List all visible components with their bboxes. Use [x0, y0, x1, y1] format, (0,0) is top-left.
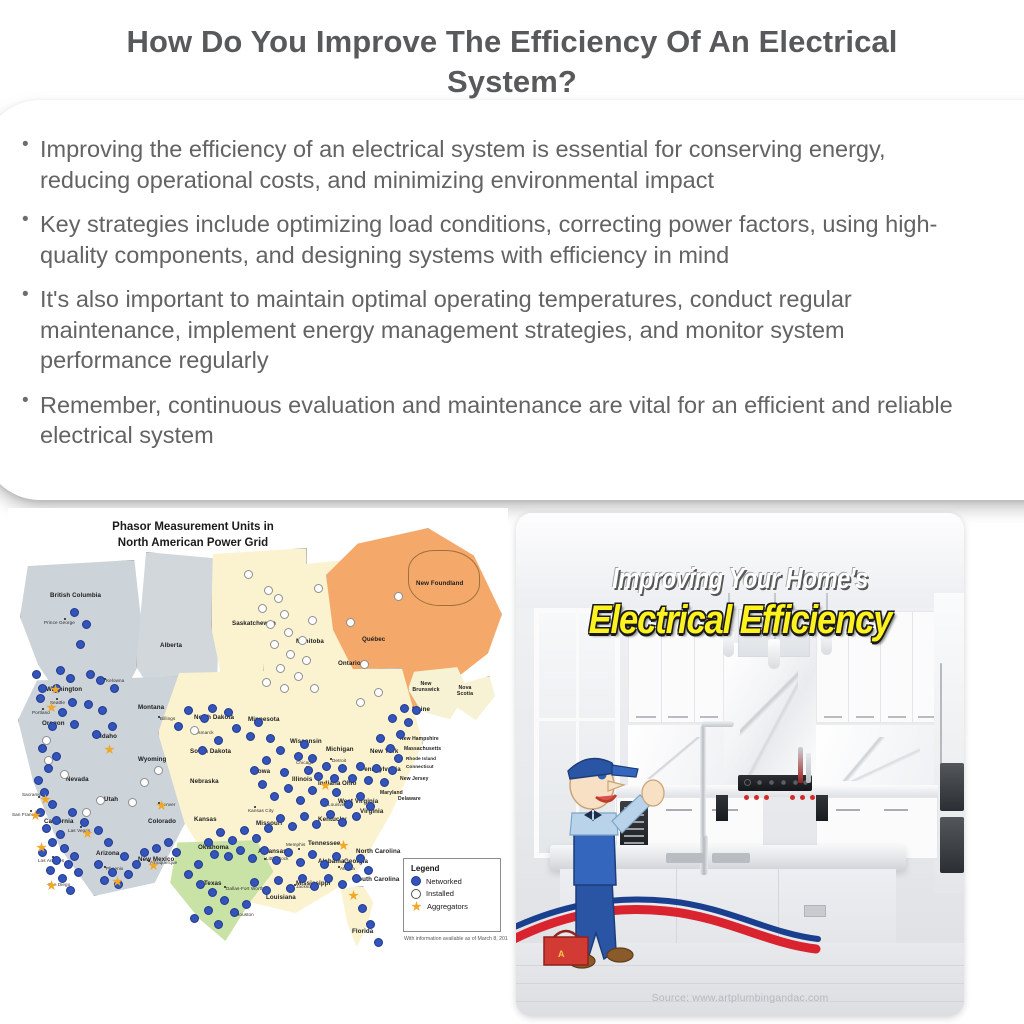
map-legend-label: Installed: [426, 889, 454, 898]
map-legend-label: Aggregators: [427, 902, 468, 911]
map-marker-installed: [154, 766, 163, 775]
map-marker-networked: [260, 846, 269, 855]
map-label-nevada: Nevada: [66, 776, 89, 783]
map-marker-networked: [322, 762, 331, 771]
map-marker-networked: [296, 858, 305, 867]
map-marker-networked: [92, 730, 101, 739]
map-marker-networked: [36, 694, 45, 703]
map-label-rhode-island: Rhode Island: [406, 756, 436, 761]
map-label-british-columbia: British Columbia: [50, 592, 101, 599]
map-label-idaho: Idaho: [100, 733, 117, 740]
images-row: Phasor Measurement Units in North Americ…: [0, 505, 1024, 1024]
map-marker-networked: [76, 640, 85, 649]
map-marker-networked: [264, 824, 273, 833]
map-marker-networked: [356, 792, 365, 801]
map-marker-networked: [240, 826, 249, 835]
map-marker-networked: [338, 880, 347, 889]
map-label-quebec: Québec: [362, 636, 385, 643]
map-marker-networked: [108, 868, 117, 877]
map-legend-item-aggregators: Aggregators: [411, 901, 493, 912]
map-marker-installed: [346, 618, 355, 627]
map-label-kansas: Kansas: [194, 816, 217, 823]
map-marker-networked: [194, 860, 203, 869]
map-label-south-dakota: South Dakota: [190, 748, 231, 755]
map-canvas: Phasor Measurement Units in North Americ…: [8, 508, 508, 1020]
map-label-new-hampshire: New Hampshire: [400, 736, 439, 742]
map-marker-networked: [96, 676, 105, 685]
map-marker-networked: [60, 844, 69, 853]
map-marker-networked: [140, 848, 149, 857]
mascot-cap-brim: [612, 765, 638, 777]
map-marker-networked: [56, 830, 65, 839]
map-marker-installed: [258, 604, 267, 613]
map-footnote: With information available as of March 8…: [404, 936, 508, 942]
map-marker-networked: [220, 896, 229, 905]
page-title: How Do You Improve The Efficiency Of An …: [70, 22, 954, 101]
map-label-louisiana: Louisiana: [266, 894, 296, 901]
map-marker-networked: [74, 868, 83, 877]
map-marker-networked: [352, 874, 361, 883]
map-label-tennessee: Tennessee: [308, 840, 340, 847]
map-marker-installed: [356, 698, 365, 707]
map-marker-networked: [250, 766, 259, 775]
map-region-newfoundland: [408, 550, 480, 606]
map-marker-installed: [310, 684, 319, 693]
map-marker-networked: [344, 862, 353, 871]
map-region-florida: [338, 886, 380, 948]
map-marker-networked: [326, 810, 335, 819]
map-marker-networked: [52, 856, 61, 865]
map-marker-installed: [280, 684, 289, 693]
map-marker-networked: [242, 900, 251, 909]
map-marker-networked: [196, 880, 205, 889]
map-marker-networked: [364, 866, 373, 875]
map-marker-networked: [304, 766, 313, 775]
map-label-newfoundland: New Foundland: [416, 580, 463, 587]
map-label-minnesota: Minnesota: [248, 716, 280, 723]
map-marker-installed: [262, 678, 271, 687]
map-marker-installed: [374, 688, 383, 697]
map-marker-networked: [300, 812, 309, 821]
map-label-ontario: Ontario: [338, 660, 361, 667]
map-marker-networked: [376, 734, 385, 743]
map-label-new-jersey: New Jersey: [400, 776, 429, 782]
map-label-michigan: Michigan: [326, 746, 354, 753]
map-label-florida: Florida: [352, 928, 373, 935]
map-label-texas: Texas: [204, 880, 222, 887]
map-marker-networked: [232, 724, 241, 733]
map-marker-installed: [276, 664, 285, 673]
map-label-massachusetts: Massachusetts: [404, 746, 441, 752]
map-marker-networked: [66, 886, 75, 895]
map-marker-networked: [204, 838, 213, 847]
map-marker-networked: [332, 788, 341, 797]
map-marker-networked: [46, 866, 55, 875]
map-title: Phasor Measurement Units in North Americ…: [68, 520, 318, 551]
map-marker-networked: [404, 718, 413, 727]
mascot-shoe: [607, 948, 633, 962]
map-marker-networked: [184, 870, 193, 879]
map-marker-networked: [110, 684, 119, 693]
map-legend-item-installed: Installed: [411, 889, 493, 899]
map-city-label: Prince George: [44, 620, 75, 625]
map-legend-title: Legend: [411, 864, 493, 873]
map-marker-networked: [100, 876, 109, 885]
map-marker-networked: [270, 792, 279, 801]
map-city-label: Seattle: [50, 700, 65, 705]
map-marker-networked: [276, 814, 285, 823]
map-marker-networked: [294, 752, 303, 761]
kitchen-photo: A Improving Your Home's Electrical Effic…: [516, 513, 964, 1016]
map-marker-networked: [310, 882, 319, 891]
power-grid-map: Phasor Measurement Units in North Americ…: [8, 508, 508, 1020]
map-marker-networked: [48, 800, 57, 809]
summary-card: Improving the efficiency of an electrica…: [0, 100, 1024, 500]
map-marker-installed: [280, 610, 289, 619]
map-marker-installed: [314, 584, 323, 593]
map-marker-networked: [164, 838, 173, 847]
map-marker-networked: [300, 740, 309, 749]
map-marker-networked: [276, 746, 285, 755]
map-marker-networked: [252, 834, 261, 843]
summary-card-content: Improving the efficiency of an electrica…: [18, 134, 1018, 474]
map-marker-networked: [172, 848, 181, 857]
map-marker-networked: [330, 774, 339, 783]
map-marker-networked: [184, 706, 193, 715]
map-city-label: Kansas City: [248, 808, 274, 813]
map-marker-installed: [394, 592, 403, 601]
map-marker-installed: [244, 570, 253, 579]
map-marker-installed: [128, 798, 137, 807]
toolbox-handle: [554, 931, 578, 937]
map-marker-networked: [312, 820, 321, 829]
map-marker-networked: [348, 774, 357, 783]
map-marker-networked: [108, 722, 117, 731]
map-marker-installed: [96, 796, 105, 805]
map-marker-installed: [360, 660, 369, 669]
map-marker-networked: [98, 706, 107, 715]
map-marker-networked: [70, 608, 79, 617]
installed-marker-icon: [411, 889, 421, 899]
list-item: Remember, continuous evaluation and main…: [18, 390, 963, 451]
map-marker-networked: [388, 714, 397, 723]
map-marker-networked: [366, 802, 375, 811]
map-marker-networked: [80, 818, 89, 827]
mascot-nose: [608, 781, 624, 791]
map-marker-installed: [190, 726, 199, 735]
map-marker-networked: [216, 828, 225, 837]
map-marker-networked: [198, 746, 207, 755]
map-marker-networked: [34, 776, 43, 785]
map-marker-networked: [288, 822, 297, 831]
map-marker-installed: [266, 620, 275, 629]
map-marker-installed: [270, 640, 279, 649]
map-marker-networked: [204, 906, 213, 915]
map-marker-networked: [70, 720, 79, 729]
map-marker-networked: [308, 754, 317, 763]
map-label-colorado: Colorado: [148, 818, 176, 825]
map-marker-networked: [48, 838, 57, 847]
bullet-list: Improving the efficiency of an electrica…: [18, 134, 1018, 451]
map-marker-networked: [356, 854, 365, 863]
map-city-label: Dallas-Fort Worth: [226, 886, 264, 891]
map-marker-networked: [320, 860, 329, 869]
map-marker-networked: [94, 826, 103, 835]
map-marker-networked: [208, 704, 217, 713]
map-marker-networked: [200, 714, 209, 723]
map-marker-networked: [314, 772, 323, 781]
mascot-technician: A: [544, 759, 664, 969]
map-marker-networked: [70, 852, 79, 861]
map-marker-networked: [394, 754, 403, 763]
map-marker-networked: [230, 908, 239, 917]
map-title-line-2: North American Power Grid: [68, 536, 318, 552]
infographic-page: How Do You Improve The Efficiency Of An …: [0, 0, 1024, 1024]
map-marker-networked: [338, 818, 347, 827]
map-marker-networked: [38, 744, 47, 753]
map-marker-networked: [250, 878, 259, 887]
map-legend: Legend Networked Installed Aggregators: [403, 858, 501, 932]
map-label-alberta: Alberta: [160, 642, 182, 649]
map-marker-networked: [124, 870, 133, 879]
map-marker-networked: [68, 808, 77, 817]
map-marker-networked: [48, 722, 57, 731]
map-marker-networked: [396, 730, 405, 739]
map-marker-networked: [298, 874, 307, 883]
map-legend-item-networked: Networked: [411, 876, 493, 886]
map-marker-networked: [284, 784, 293, 793]
map-legend-label: Networked: [426, 877, 462, 886]
map-city-label: Detroit: [332, 758, 346, 763]
map-label-utah: Utah: [104, 796, 118, 803]
map-marker-networked: [174, 722, 183, 731]
map-marker-networked: [332, 852, 341, 861]
map-marker-networked: [338, 764, 347, 773]
map-marker-installed: [286, 650, 295, 659]
map-title-line-1: Phasor Measurement Units in: [68, 520, 318, 536]
map-marker-networked: [366, 920, 375, 929]
list-item: It's also important to maintain optimal …: [18, 284, 963, 376]
map-marker-networked: [258, 780, 267, 789]
map-marker-networked: [386, 744, 395, 753]
map-marker-networked: [214, 920, 223, 929]
map-marker-installed: [274, 594, 283, 603]
mascot-and-swoosh-graphic: A: [516, 513, 964, 1016]
map-label-maryland: Maryland: [380, 790, 403, 796]
map-marker-networked: [380, 778, 389, 787]
map-city-label: Billings: [160, 716, 175, 721]
map-label-arizona: Arizona: [96, 850, 119, 857]
map-marker-networked: [262, 886, 271, 895]
map-marker-networked: [190, 914, 199, 923]
map-city-label: Kelowna: [106, 678, 124, 683]
map-marker-networked: [280, 768, 289, 777]
map-marker-networked: [364, 776, 373, 785]
map-marker-networked: [254, 718, 263, 727]
map-label-new-brunswick: New Brunswick: [412, 682, 440, 694]
mascot-hand: [642, 780, 664, 806]
map-marker-installed: [294, 672, 303, 681]
map-marker-networked: [228, 836, 237, 845]
map-marker-networked: [210, 850, 219, 859]
map-marker-networked: [58, 874, 67, 883]
map-marker-networked: [324, 874, 333, 883]
map-label-wyoming: Wyoming: [138, 756, 166, 763]
map-marker-networked: [58, 708, 67, 717]
map-marker-networked: [352, 812, 361, 821]
map-marker-networked: [224, 852, 233, 861]
map-marker-networked: [68, 698, 77, 707]
map-marker-networked: [374, 938, 383, 947]
map-marker-networked: [266, 734, 275, 743]
map-label-illinois: Illinois: [292, 776, 312, 783]
map-marker-networked: [246, 732, 255, 741]
map-marker-networked: [120, 852, 129, 861]
map-marker-networked: [356, 762, 365, 771]
map-marker-installed: [308, 616, 317, 625]
map-marker-networked: [84, 700, 93, 709]
map-marker-networked: [214, 736, 223, 745]
map-marker-networked: [308, 850, 317, 859]
map-marker-networked: [308, 786, 317, 795]
map-marker-networked: [284, 848, 293, 857]
map-marker-networked: [42, 824, 51, 833]
map-marker-networked: [262, 756, 271, 765]
map-marker-networked: [286, 884, 295, 893]
map-marker-installed: [82, 808, 91, 817]
map-marker-installed: [284, 628, 293, 637]
map-marker-networked: [248, 854, 257, 863]
map-city-label: Portland: [32, 710, 50, 715]
page-title-wrap: How Do You Improve The Efficiency Of An …: [70, 22, 954, 101]
map-marker-networked: [152, 844, 161, 853]
map-marker-networked: [274, 876, 283, 885]
map-marker-networked: [412, 706, 421, 715]
mascot-toolbox: [544, 937, 588, 965]
mascot-torso: [574, 831, 616, 885]
map-marker-networked: [272, 856, 281, 865]
map-marker-networked: [208, 888, 217, 897]
map-marker-installed: [298, 636, 307, 645]
map-marker-installed: [302, 656, 311, 665]
kitchen-photo-panel: A Improving Your Home's Electrical Effic…: [516, 513, 964, 1016]
toolbox-logo: A: [558, 949, 565, 959]
aggregator-star-icon: [411, 901, 422, 912]
map-marker-networked: [52, 752, 61, 761]
map-marker-networked: [94, 860, 103, 869]
map-marker-networked: [32, 670, 41, 679]
kitchen-source-credit: Source: www.artplumbingandac.com: [516, 992, 964, 1004]
map-marker-networked: [82, 620, 91, 629]
map-marker-networked: [388, 766, 397, 775]
map-marker-networked: [40, 788, 49, 797]
map-marker-networked: [358, 904, 367, 913]
map-marker-installed: [140, 778, 149, 787]
map-marker-networked: [296, 796, 305, 805]
map-marker-networked: [372, 764, 381, 773]
map-marker-networked: [236, 846, 245, 855]
map-label-delaware: Delaware: [398, 796, 421, 802]
map-marker-networked: [38, 684, 47, 693]
map-marker-networked: [66, 674, 75, 683]
networked-marker-icon: [411, 876, 421, 886]
map-label-nova-scotia: Nova Scotia: [452, 686, 478, 698]
map-marker-networked: [224, 708, 233, 717]
map-marker-installed: [60, 770, 69, 779]
map-marker-networked: [132, 860, 141, 869]
map-marker-networked: [104, 838, 113, 847]
map-label-montana: Montana: [138, 704, 164, 711]
map-label-nebraska: Nebraska: [190, 778, 219, 785]
map-marker-networked: [320, 798, 329, 807]
map-marker-networked: [344, 800, 353, 809]
map-marker-networked: [64, 860, 73, 869]
map-marker-networked: [56, 666, 65, 675]
map-label-connecticut: Connecticut: [406, 764, 434, 769]
map-city-label: Memphis: [286, 842, 305, 847]
map-marker-networked: [52, 816, 61, 825]
list-item: Key strategies include optimizing load c…: [18, 209, 963, 270]
map-marker-networked: [86, 670, 95, 679]
map-marker-installed: [264, 586, 273, 595]
list-item: Improving the efficiency of an electrica…: [18, 134, 963, 195]
map-marker-networked: [400, 704, 409, 713]
map-marker-networked: [44, 764, 53, 773]
